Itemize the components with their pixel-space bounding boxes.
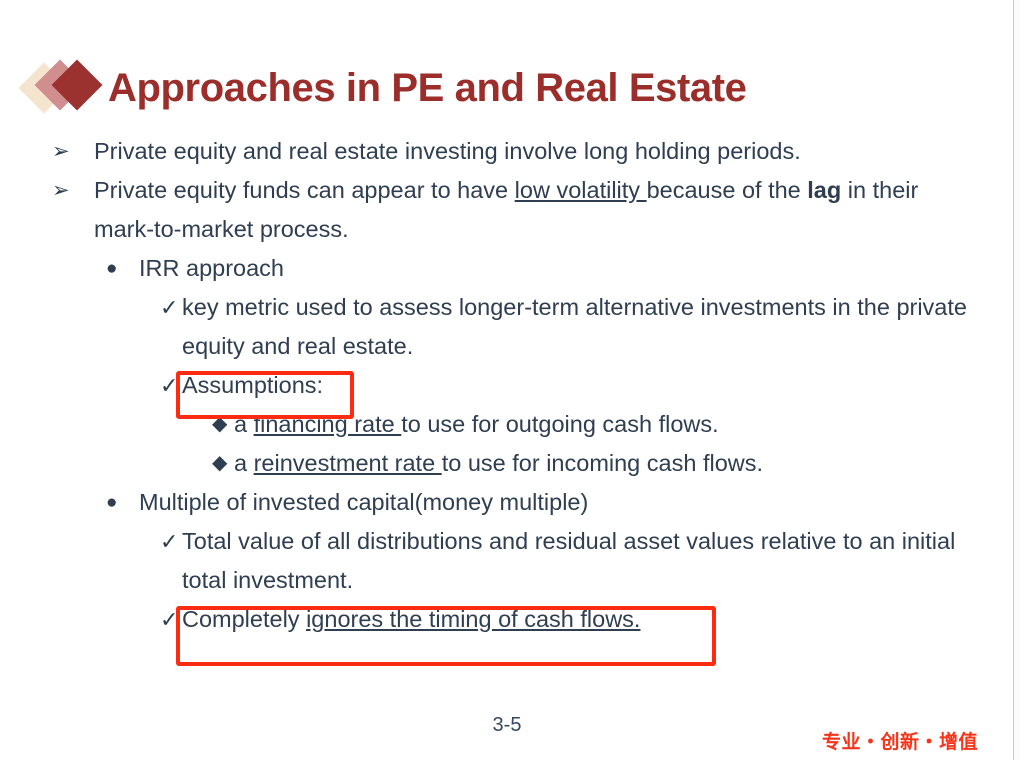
- bullet-item-level3: ✓Total value of all distributions and re…: [0, 522, 1014, 600]
- bullet-text: IRR approach: [139, 249, 1014, 288]
- bullet-marker-level3-icon: ✓: [160, 288, 182, 327]
- text-run: Multiple of invested capital(money multi…: [139, 489, 588, 515]
- bullet-item-level3: ✓Completely ignores the timing of cash f…: [0, 600, 1014, 639]
- bullet-marker-level3-icon: ✓: [160, 366, 182, 405]
- text-run: a: [234, 450, 254, 476]
- bullet-marker-level3-icon: ✓: [160, 600, 182, 639]
- bullet-item-level2: ●Multiple of invested capital(money mult…: [0, 483, 1014, 522]
- text-run: Private equity and real estate investing…: [94, 138, 801, 164]
- bullet-item-level3: ✓Assumptions:: [0, 366, 1014, 405]
- bullet-item-level1: ➢Private equity funds can appear to have…: [0, 171, 1014, 249]
- diamond-cluster-decoration: [26, 60, 104, 116]
- bullet-text: a reinvestment rate to use for incoming …: [234, 444, 1014, 483]
- bullet-text: key metric used to assess longer-term al…: [182, 288, 972, 366]
- footer-slogan: 专业・创新・增值: [822, 727, 978, 754]
- text-run: IRR approach: [139, 255, 284, 281]
- emphasis-underline: ignores the timing of cash flows.: [306, 606, 640, 632]
- bullet-marker-level4-icon: ◆: [212, 405, 234, 444]
- presentation-slide: Approaches in PE and Real Estate ➢Privat…: [0, 0, 1020, 760]
- bullet-item-level2: ●IRR approach: [0, 249, 1014, 288]
- emphasis-bold: lag: [807, 177, 841, 203]
- bullet-marker-level1-icon: ➢: [52, 132, 94, 171]
- bullet-text: a financing rate to use for outgoing cas…: [234, 405, 1014, 444]
- bullet-text: Private equity funds can appear to have …: [94, 171, 964, 249]
- bullet-item-level1: ➢Private equity and real estate investin…: [0, 132, 1014, 171]
- bullet-text: Private equity and real estate investing…: [94, 132, 964, 171]
- bullet-item-level3: ✓key metric used to assess longer-term a…: [0, 288, 1014, 366]
- bullet-item-level4: ◆a reinvestment rate to use for incoming…: [0, 444, 1014, 483]
- text-run: Assumptions:: [182, 372, 323, 398]
- bullet-text: Multiple of invested capital(money multi…: [139, 483, 1014, 522]
- text-run: Completely: [182, 606, 306, 632]
- bullet-text: Total value of all distributions and res…: [182, 522, 972, 600]
- bullet-item-level4: ◆a financing rate to use for outgoing ca…: [0, 405, 1014, 444]
- bullet-marker-level4-icon: ◆: [212, 444, 234, 483]
- text-run: because of the: [647, 177, 808, 203]
- slide-body: ➢Private equity and real estate investin…: [0, 132, 1014, 639]
- text-run: Private equity funds can appear to have: [94, 177, 515, 203]
- bullet-marker-level2-icon: ●: [106, 483, 139, 522]
- text-run: key metric used to assess longer-term al…: [182, 294, 967, 359]
- text-run: a: [234, 411, 254, 437]
- bullet-marker-level1-icon: ➢: [52, 171, 94, 210]
- text-run: Total value of all distributions and res…: [182, 528, 955, 593]
- emphasis-underline: reinvestment rate: [254, 450, 442, 476]
- bullet-text: Assumptions:: [182, 366, 972, 405]
- page-title: Approaches in PE and Real Estate: [108, 68, 747, 108]
- bullet-marker-level3-icon: ✓: [160, 522, 182, 561]
- emphasis-underline: financing rate: [254, 411, 402, 437]
- bullet-marker-level2-icon: ●: [106, 249, 139, 288]
- text-run: to use for incoming cash flows.: [442, 450, 763, 476]
- bullet-text: Completely ignores the timing of cash fl…: [182, 600, 972, 639]
- slide-right-gutter: [1014, 0, 1020, 760]
- emphasis-underline: low volatility: [515, 177, 647, 203]
- text-run: to use for outgoing cash flows.: [401, 411, 718, 437]
- slide-title-row: Approaches in PE and Real Estate: [26, 56, 747, 120]
